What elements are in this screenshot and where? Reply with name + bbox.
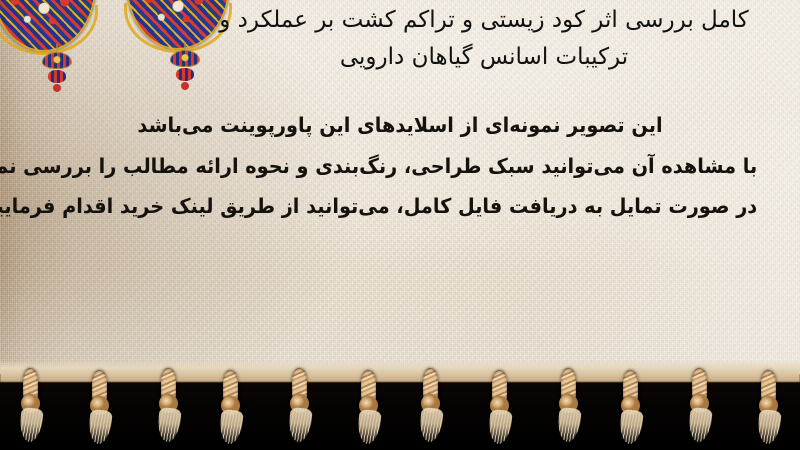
persian-medallion-ornament-left [0, 0, 96, 52]
tassel-brush [19, 407, 44, 443]
slide-body: این تصویر نمونه‌ای از اسلایدهای این پاور… [20, 105, 780, 227]
tassel-brush [87, 409, 112, 445]
tassel-brush [619, 409, 644, 445]
carpet-tassel [614, 368, 648, 448]
carpet-tassel [352, 368, 386, 448]
tassel-brush [287, 407, 312, 443]
medallion-gold-outline [0, 5, 98, 55]
tassel-brush [419, 407, 444, 443]
tassel-brush [756, 409, 781, 445]
carpet-tassel [683, 366, 717, 446]
pendant-upper-motif [42, 52, 72, 69]
carpet-tassel-fringe [0, 366, 800, 450]
tassel-brush [687, 407, 712, 443]
tassel-brush [556, 407, 581, 443]
pendant-mid-motif [48, 70, 66, 83]
slide-title: کامل بررسی اثر کود زیستی و تراکم کشت بر … [184, 2, 784, 77]
slide-body-line-2: با مشاهده آن می‌توانید سبک طراحی، رنگ‌بن… [43, 146, 757, 187]
tassel-brush [356, 409, 381, 445]
carpet-tassel [552, 366, 586, 446]
slide-body-line-3: در صورت تمایل به دریافت فایل کامل، می‌تو… [43, 186, 757, 227]
carpet-tassel [752, 368, 786, 448]
pendant-lower-dot [181, 82, 189, 90]
carpet-tassel [283, 366, 317, 446]
tassel-brush [156, 407, 181, 443]
carpet-tassel [214, 368, 248, 448]
medallion-pendant-left [40, 52, 74, 104]
tassel-brush [219, 409, 244, 445]
carpet-tassel [83, 368, 117, 448]
carpet-tassel [483, 368, 517, 448]
slide-title-line-2: ترکیبات اسانس گیاهان دارویی [184, 39, 784, 76]
slide-canvas: کامل بررسی اثر کود زیستی و تراکم کشت بر … [0, 0, 800, 450]
carpet-tassel [152, 366, 186, 446]
slide-body-line-1: این تصویر نمونه‌ای از اسلایدهای این پاور… [43, 105, 757, 146]
slide-title-line-1: کامل بررسی اثر کود زیستی و تراکم کشت بر … [184, 2, 784, 39]
carpet-tassel [414, 366, 448, 446]
tassel-brush [487, 409, 512, 445]
pendant-lower-dot [53, 84, 61, 92]
carpet-tassel [14, 366, 48, 446]
